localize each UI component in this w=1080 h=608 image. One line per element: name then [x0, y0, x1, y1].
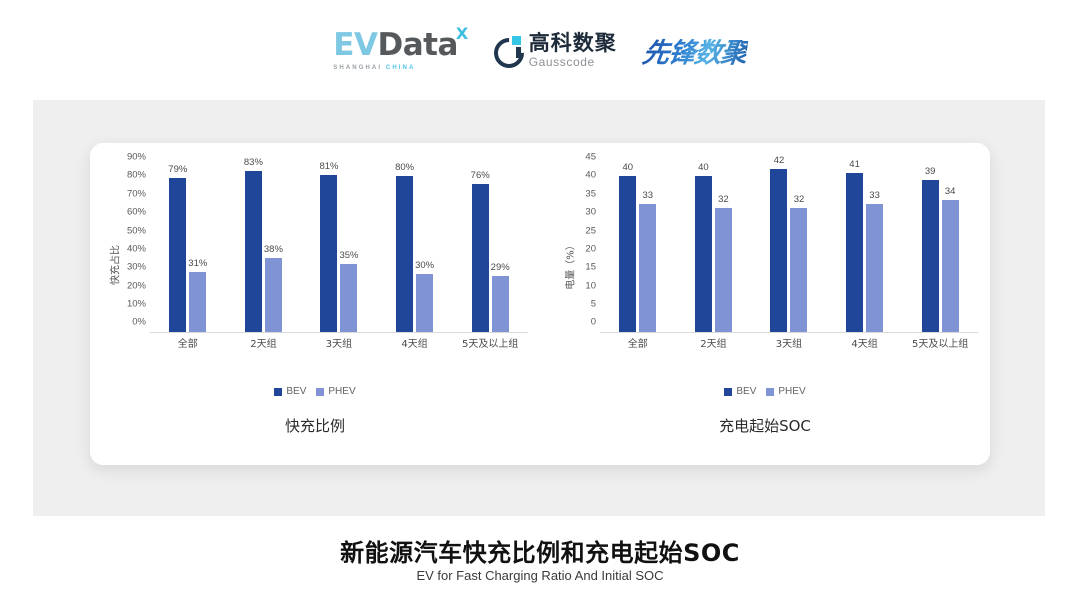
- bar-bev[interactable]: 42: [770, 169, 787, 332]
- chart-card: 快充占比90%80%70%60%50%40%30%20%10%0%79%31%8…: [90, 143, 990, 465]
- bar-phev[interactable]: 29%: [492, 276, 509, 332]
- bar-bev[interactable]: 41: [846, 173, 863, 332]
- chart-fast-charging-ratio: 快充占比90%80%70%60%50%40%30%20%10%0%79%31%8…: [90, 143, 540, 465]
- legend-swatch-icon: [274, 388, 282, 396]
- y-axis-tick: 5: [591, 299, 596, 309]
- legend-swatch-icon: [724, 388, 732, 396]
- chart-initial-soc: 电量（%）45403530252015105040334032423241333…: [540, 143, 990, 465]
- legend-swatch-icon: [766, 388, 774, 396]
- x-axis-tick: 全部: [600, 335, 676, 350]
- x-axis-tick: 3天组: [751, 335, 827, 350]
- evdata-wordmark: EVDataX: [333, 30, 467, 61]
- bar-phev[interactable]: 38%: [265, 258, 282, 332]
- bars-container: 40334032423241333934: [600, 157, 978, 333]
- charts-row: 快充占比90%80%70%60%50%40%30%20%10%0%79%31%8…: [90, 143, 990, 465]
- x-axis-tick: 2天组: [226, 335, 302, 350]
- y-axis-tick: 30%: [127, 263, 146, 273]
- x-axis-tick: 5天及以上组: [902, 335, 978, 350]
- y-axis-tick: 25: [585, 226, 596, 236]
- bar-phev[interactable]: 34: [942, 200, 959, 332]
- page-title: 新能源汽车快充比例和充电起始SOC: [0, 533, 1080, 568]
- y-axis-tick: 30: [585, 207, 596, 217]
- gausscode-mark-icon: [494, 36, 522, 64]
- bar-value-label: 33: [869, 190, 880, 201]
- bar-value-label: 29%: [491, 262, 510, 273]
- bar-group: 79%31%: [150, 157, 226, 332]
- bar-value-label: 34: [945, 186, 956, 197]
- y-axis-tick: 20%: [127, 281, 146, 291]
- x-axis-tick: 4天组: [377, 335, 453, 350]
- legend-item-bev[interactable]: BEV: [724, 386, 756, 397]
- bar-value-label: 41: [849, 159, 860, 170]
- bar-value-label: 79%: [168, 164, 187, 175]
- bar-bev[interactable]: 39: [922, 180, 939, 332]
- y-axis-tick: 40: [585, 171, 596, 181]
- y-axis-tick: 0: [591, 318, 596, 328]
- bar-value-label: 31%: [188, 258, 207, 269]
- bar-phev[interactable]: 33: [639, 204, 656, 332]
- bar-value-label: 76%: [471, 170, 490, 181]
- y-axis-tick: 90%: [127, 152, 146, 162]
- legend-label: BEV: [736, 386, 756, 397]
- bar-value-label: 39: [925, 166, 936, 177]
- y-axis-tick: 35: [585, 189, 596, 199]
- plot-area: 快充占比90%80%70%60%50%40%30%20%10%0%79%31%8…: [90, 157, 540, 372]
- legend-label: BEV: [286, 386, 306, 397]
- bar-group: 4032: [676, 157, 752, 332]
- bar-group: 4232: [751, 157, 827, 332]
- evdata-ev-text: EV: [333, 30, 377, 61]
- bar-value-label: 32: [794, 194, 805, 205]
- bar-value-label: 83%: [244, 157, 263, 168]
- legend-item-phev[interactable]: PHEV: [316, 386, 355, 397]
- chart-title: 充电起始SOC: [540, 415, 990, 436]
- y-axis-tick: 80%: [127, 171, 146, 181]
- chart-title: 快充比例: [90, 415, 540, 436]
- y-axis-tick: 0%: [132, 318, 146, 328]
- bar-value-label: 30%: [415, 260, 434, 271]
- page-subtitle: EV for Fast Charging Ratio And Initial S…: [0, 568, 1080, 583]
- bar-group: 81%35%: [301, 157, 377, 332]
- legend-item-phev[interactable]: PHEV: [766, 386, 805, 397]
- bar-phev[interactable]: 33: [866, 204, 883, 332]
- bar-group: 3934: [902, 157, 978, 332]
- bar-bev[interactable]: 81%: [320, 175, 337, 333]
- gausscode-logo: 高科数聚 Gausscode: [494, 33, 617, 68]
- bar-value-label: 38%: [264, 244, 283, 255]
- x-axis-labels: 全部2天组3天组4天组5天及以上组: [600, 335, 978, 350]
- y-axis-tick: 40%: [127, 244, 146, 254]
- x-axis-tick: 2天组: [676, 335, 752, 350]
- bar-value-label: 80%: [395, 162, 414, 173]
- y-axis-ticks: 90%80%70%60%50%40%30%20%10%0%: [110, 157, 146, 332]
- x-axis-tick: 4天组: [827, 335, 903, 350]
- gausscode-en-text: Gausscode: [529, 56, 617, 68]
- bar-phev[interactable]: 30%: [416, 274, 433, 332]
- x-axis-labels: 全部2天组3天组4天组5天及以上组: [150, 335, 528, 350]
- bar-value-label: 40: [698, 162, 709, 173]
- evdata-x-icon: X: [456, 26, 468, 42]
- x-axis-tick: 全部: [150, 335, 226, 350]
- plot-area: 电量（%）45403530252015105040334032423241333…: [540, 157, 990, 372]
- bar-phev[interactable]: 31%: [189, 272, 206, 332]
- evdata-china-text: CHINA: [386, 65, 416, 71]
- bar-group: 4133: [827, 157, 903, 332]
- y-axis-tick: 45: [585, 152, 596, 162]
- y-axis-ticks: 454035302520151050: [560, 157, 596, 332]
- bar-bev[interactable]: 79%: [169, 178, 186, 332]
- chart-legend: BEVPHEV: [540, 386, 990, 397]
- bar-value-label: 42: [774, 155, 785, 166]
- bar-phev[interactable]: 32: [715, 208, 732, 332]
- evdata-logo: EVDataX SHANGHAI CHINA: [333, 30, 467, 71]
- y-axis-tick: 10: [585, 281, 596, 291]
- x-axis-tick: 5天及以上组: [452, 335, 528, 350]
- legend-swatch-icon: [316, 388, 324, 396]
- bar-group: 4033: [600, 157, 676, 332]
- bar-value-label: 40: [623, 162, 634, 173]
- bar-bev[interactable]: 76%: [472, 184, 489, 332]
- bar-value-label: 35%: [339, 250, 358, 261]
- y-axis-tick: 20: [585, 244, 596, 254]
- evdata-shanghai-text: SHANGHAI: [333, 65, 382, 71]
- legend-label: PHEV: [328, 386, 355, 397]
- bar-group: 83%38%: [226, 157, 302, 332]
- legend-item-bev[interactable]: BEV: [274, 386, 306, 397]
- gausscode-cn-text: 高科数聚: [529, 33, 617, 54]
- bar-bev[interactable]: 80%: [396, 176, 413, 332]
- bar-bev[interactable]: 83%: [245, 171, 262, 332]
- logo-bar: EVDataX SHANGHAI CHINA 高科数聚 Gausscode 先锋…: [0, 22, 1080, 78]
- legend-label: PHEV: [778, 386, 805, 397]
- xianfeng-logo: 先锋数聚: [640, 31, 749, 70]
- bar-bev[interactable]: 40: [619, 176, 636, 332]
- y-axis-tick: 50%: [127, 226, 146, 236]
- y-axis-tick: 70%: [127, 189, 146, 199]
- chart-legend: BEVPHEV: [90, 386, 540, 397]
- bar-value-label: 81%: [319, 161, 338, 172]
- bars-container: 79%31%83%38%81%35%80%30%76%29%: [150, 157, 528, 333]
- bar-phev[interactable]: 35%: [340, 264, 357, 332]
- bar-value-label: 32: [718, 194, 729, 205]
- y-axis-tick: 15: [585, 263, 596, 273]
- bar-phev[interactable]: 32: [790, 208, 807, 332]
- evdata-data-text: Data: [377, 30, 457, 61]
- x-axis-tick: 3天组: [301, 335, 377, 350]
- bar-group: 80%30%: [377, 157, 453, 332]
- y-axis-tick: 60%: [127, 207, 146, 217]
- bar-bev[interactable]: 40: [695, 176, 712, 332]
- bar-value-label: 33: [643, 190, 654, 201]
- evdata-tagline: SHANGHAI CHINA: [333, 65, 415, 71]
- y-axis-tick: 10%: [127, 299, 146, 309]
- bar-group: 76%29%: [452, 157, 528, 332]
